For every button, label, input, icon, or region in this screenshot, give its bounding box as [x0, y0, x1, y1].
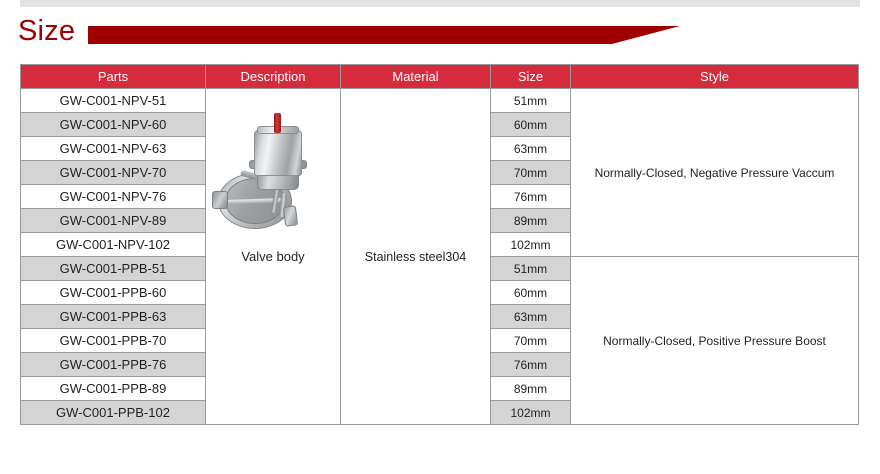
valve-body-photo: [212, 111, 334, 223]
table-body: GW-C001-NPV-51: [21, 89, 859, 425]
top-gray-strip: [0, 0, 880, 7]
cell-part-number: GW-C001-PPB-60: [21, 281, 206, 305]
size-spec-page: Size Parts Description Material Size Sty…: [0, 0, 880, 474]
cell-part-number: GW-C001-NPV-102: [21, 233, 206, 257]
cell-size: 51mm: [491, 257, 571, 281]
table-row: GW-C001-NPV-51: [21, 89, 859, 113]
top-strip-right-gap: [860, 0, 880, 7]
cell-part-number: GW-C001-PPB-102: [21, 401, 206, 425]
page-title: Size: [18, 14, 75, 48]
column-header-parts: Parts: [21, 65, 206, 89]
cell-part-number: GW-C001-NPV-89: [21, 209, 206, 233]
section-title-row: Size: [0, 8, 880, 52]
cell-size: 102mm: [491, 233, 571, 257]
top-strip-left-gap: [0, 0, 20, 7]
cell-part-number: GW-C001-PPB-70: [21, 329, 206, 353]
column-header-description: Description: [206, 65, 341, 89]
column-header-size: Size: [491, 65, 571, 89]
table-header: Parts Description Material Size Style: [21, 65, 859, 89]
cell-size: 63mm: [491, 137, 571, 161]
column-header-style: Style: [571, 65, 859, 89]
cell-part-number: GW-C001-PPB-89: [21, 377, 206, 401]
cell-part-number: GW-C001-PPB-51: [21, 257, 206, 281]
cell-part-number: GW-C001-PPB-76: [21, 353, 206, 377]
cell-material: Stainless steel304: [341, 89, 491, 425]
cell-part-number: GW-C001-PPB-63: [21, 305, 206, 329]
cell-description: Valve body: [206, 89, 341, 425]
cell-part-number: GW-C001-NPV-63: [21, 137, 206, 161]
cell-size: 60mm: [491, 113, 571, 137]
column-header-material: Material: [341, 65, 491, 89]
cell-style-ppb: Normally-Closed, Positive Pressure Boost: [571, 257, 859, 425]
cell-size: 102mm: [491, 401, 571, 425]
size-specification-table: Parts Description Material Size Style GW…: [20, 64, 859, 425]
valve-mounting-tab: [283, 205, 298, 226]
cell-size: 51mm: [491, 89, 571, 113]
cell-size: 70mm: [491, 161, 571, 185]
valve-hub: [212, 191, 228, 209]
description-label: Valve body: [241, 249, 304, 264]
cell-size: 60mm: [491, 281, 571, 305]
cell-size: 89mm: [491, 377, 571, 401]
cell-part-number: GW-C001-NPV-70: [21, 161, 206, 185]
valve-actuator-body: [254, 130, 302, 176]
cell-size: 76mm: [491, 185, 571, 209]
title-accent-bar: [88, 26, 680, 44]
cell-part-number: GW-C001-NPV-60: [21, 113, 206, 137]
valve-red-stem: [274, 113, 281, 133]
cell-part-number: GW-C001-NPV-76: [21, 185, 206, 209]
cell-size: 89mm: [491, 209, 571, 233]
cell-size: 70mm: [491, 329, 571, 353]
cell-size: 63mm: [491, 305, 571, 329]
cell-style-npv: Normally-Closed, Negative Pressure Vaccu…: [571, 89, 859, 257]
table-header-row: Parts Description Material Size Style: [21, 65, 859, 89]
cell-size: 76mm: [491, 353, 571, 377]
cell-part-number: GW-C001-NPV-51: [21, 89, 206, 113]
